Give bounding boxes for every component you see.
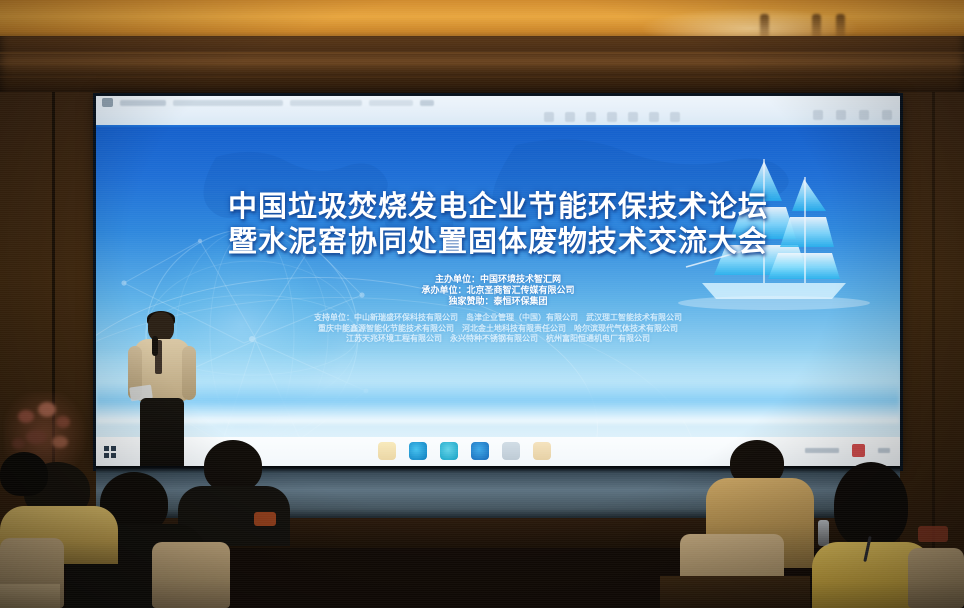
attendee-right-yellow-hair [834, 462, 908, 548]
slide-organizer-block: 主办单位：中国环境技术智汇网 承办单位：北京圣商智汇传媒有限公司 独家赞助：泰恒… [96, 275, 900, 308]
favicon-icon [102, 98, 113, 107]
desk [660, 576, 810, 608]
toolbar-label [173, 100, 283, 106]
attendee-front-left-head [0, 452, 48, 496]
supporter-line: 重庆中能鑫源智能化节能技术有限公司 河北金土地科技有限责任公司 哈尔滨现代气体技… [96, 324, 900, 335]
toolbar-tab-row[interactable] [102, 98, 434, 107]
microphone [152, 336, 158, 356]
fit-page-icon[interactable] [586, 112, 596, 122]
chair-back [152, 542, 230, 608]
settings-icon[interactable] [882, 110, 892, 120]
taskbar-app-group[interactable] [378, 442, 551, 460]
redo-icon[interactable] [649, 112, 659, 122]
presentation-slide: 中国垃圾焚烧发电企业节能环保技术论坛 暨水泥窑协同处置固体废物技术交流大会 主办… [96, 127, 900, 437]
rotate-icon[interactable] [607, 112, 617, 122]
crown-molding [0, 36, 964, 98]
slide-title-block: 中国垃圾焚烧发电企业节能环保技术论坛 暨水泥窑协同处置固体废物技术交流大会 [96, 189, 900, 259]
chair-back [908, 548, 964, 608]
application-toolbar [96, 96, 900, 127]
presenter-arm-right [182, 346, 196, 400]
wall-seam [932, 92, 935, 562]
zoom-out-icon[interactable] [544, 112, 554, 122]
table-object [254, 512, 276, 526]
organizer-line: 主办单位：中国环境技术智汇网 [96, 275, 900, 286]
app-icon[interactable] [533, 442, 551, 460]
toolbar-label [420, 100, 434, 106]
toolbar-icon-group-right[interactable] [813, 110, 892, 120]
teams-icon[interactable] [440, 442, 458, 460]
taskbar-system-tray[interactable] [805, 444, 890, 457]
slide-title-line-2: 暨水泥窑协同处置固体废物技术交流大会 [96, 224, 900, 259]
download-icon[interactable] [836, 110, 846, 120]
file-explorer-icon[interactable] [378, 442, 396, 460]
more-icon[interactable] [670, 112, 680, 122]
edge-browser-icon[interactable] [409, 442, 427, 460]
conference-presentation-photo: 中国垃圾焚烧发电企业节能环保技术论坛 暨水泥窑协同处置固体废物技术交流大会 主办… [0, 0, 964, 608]
share-icon[interactable] [813, 110, 823, 120]
toolbar-label [369, 100, 413, 106]
browser-icon[interactable] [471, 442, 489, 460]
toolbar-icon-group-left[interactable] [544, 112, 680, 122]
water-bottle [818, 520, 829, 546]
attendee-center-head [204, 440, 262, 492]
presenter-speaker [128, 312, 198, 480]
print-icon[interactable] [859, 110, 869, 120]
zoom-in-icon[interactable] [565, 112, 575, 122]
notification-icon[interactable] [852, 444, 865, 457]
table-object [918, 526, 948, 542]
light-streak-graphic [96, 349, 900, 423]
led-wall-display: 中国垃圾焚烧发电企业节能环保技术论坛 暨水泥窑协同处置固体废物技术交流大会 主办… [96, 96, 900, 468]
slide-supporter-block: 支持单位：中山新瑞盛环保科技有限公司 岛津企业管理（中国）有限公司 武汉理工智能… [96, 313, 900, 345]
windows-start-icon[interactable] [104, 446, 117, 459]
supporter-line: 支持单位：中山新瑞盛环保科技有限公司 岛津企业管理（中国）有限公司 武汉理工智能… [96, 313, 900, 324]
undo-icon[interactable] [628, 112, 638, 122]
app-icon[interactable] [502, 442, 520, 460]
organizer-line: 承办单位：北京圣商智汇传媒有限公司 [96, 286, 900, 297]
network-icon[interactable] [805, 448, 839, 453]
slide-title-line-1: 中国垃圾焚烧发电企业节能环保技术论坛 [96, 189, 900, 224]
toolbar-label [120, 100, 166, 106]
wall-panel-right [898, 92, 964, 562]
organizer-line: 独家赞助：泰恒环保集团 [96, 297, 900, 308]
desk [0, 584, 60, 608]
toolbar-label [290, 100, 362, 106]
volume-icon[interactable] [878, 448, 890, 453]
supporter-line: 江苏天兆环境工程有限公司 永兴特种不锈钢有限公司 杭州富阳恒通机电厂有限公司 [96, 334, 900, 345]
